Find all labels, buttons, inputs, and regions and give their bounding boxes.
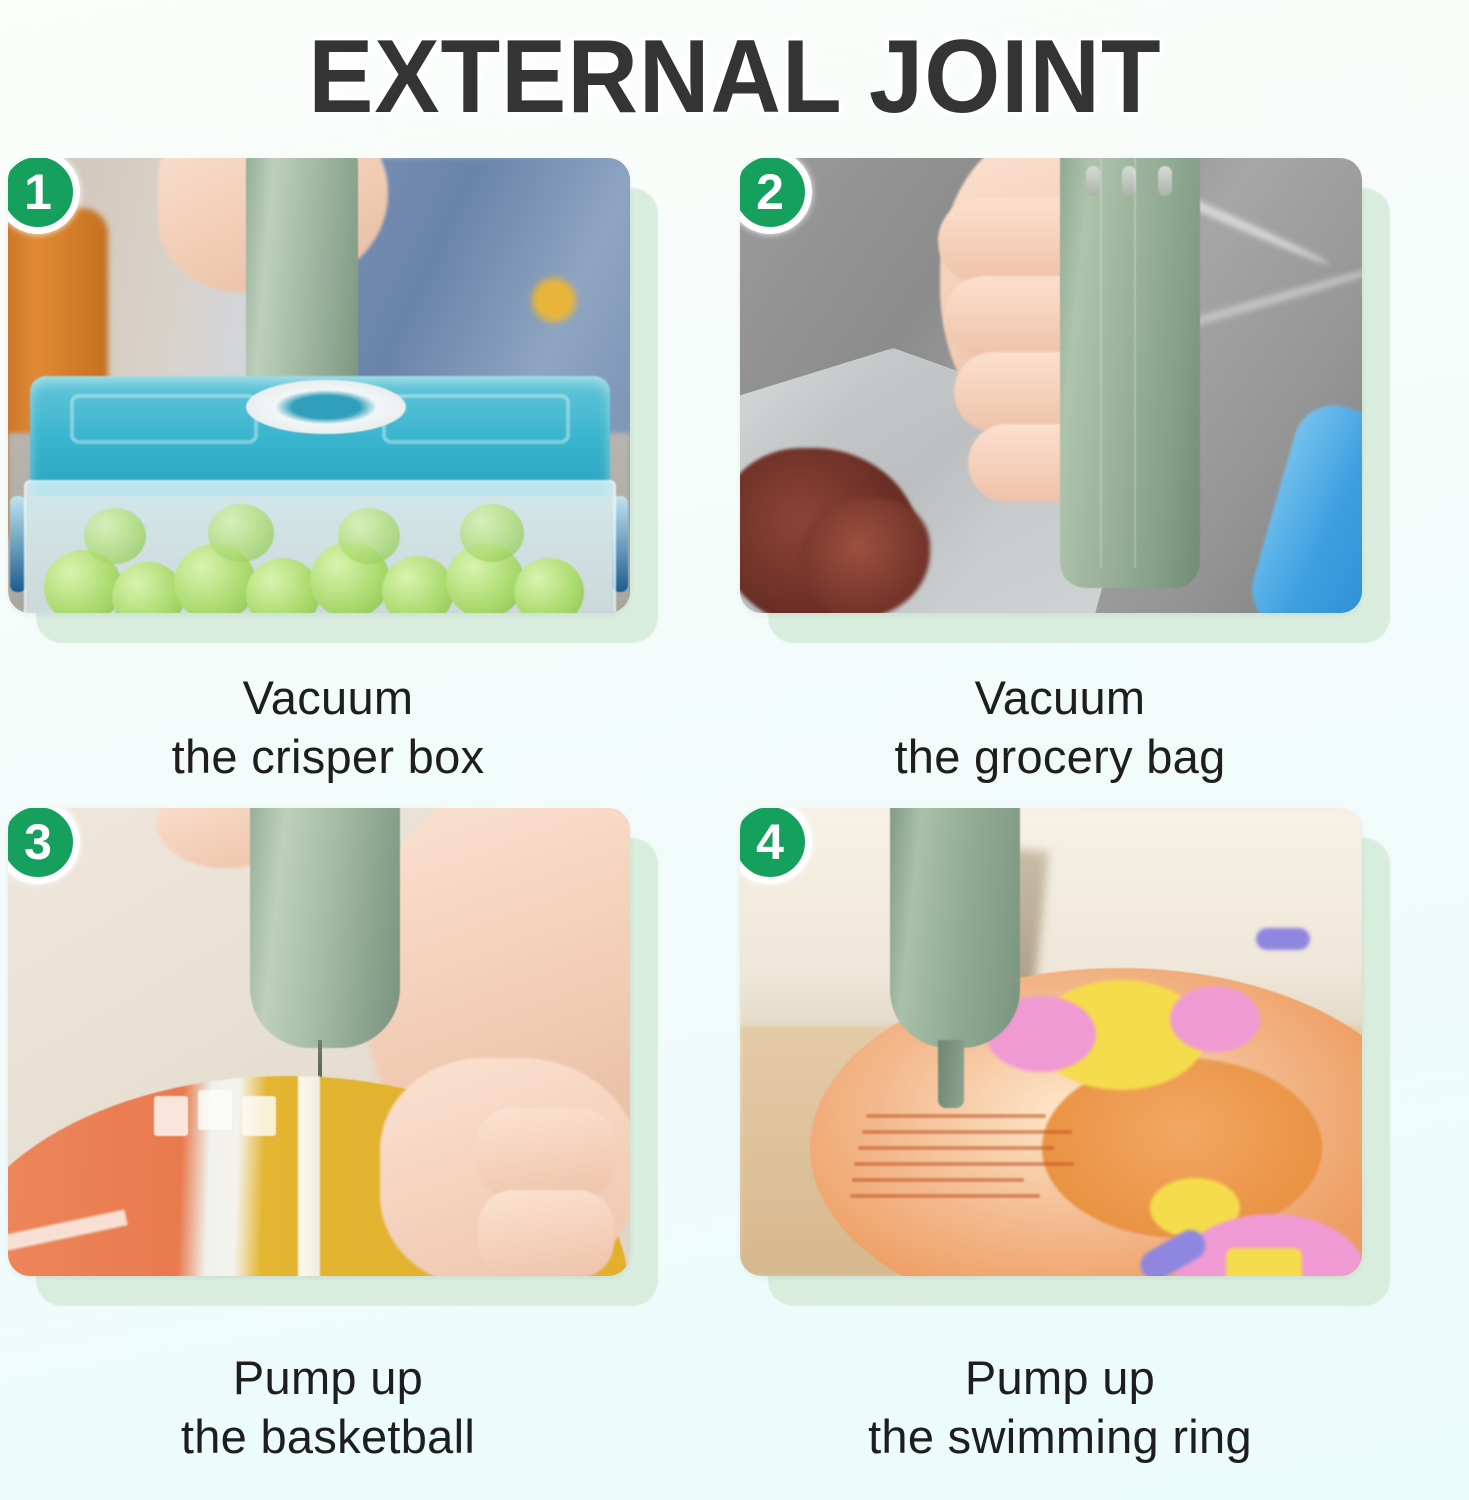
vacuum-pump-shape: [1060, 158, 1200, 588]
ring-yellow-graphic: [1226, 1248, 1302, 1276]
title-bar: EXTERNAL JOINT: [0, 0, 1469, 148]
ball-print: [198, 1090, 232, 1130]
grape: [460, 504, 524, 562]
step-2-photo-card: 2: [740, 158, 1362, 613]
page-title: EXTERNAL JOINT: [308, 25, 1161, 129]
inflation-nozzle-shape: [938, 1040, 964, 1108]
dried-meat-shape: [800, 498, 930, 613]
step-4-image-wrap: 4: [740, 808, 1362, 1276]
vacuum-pump-shape: [890, 808, 1020, 1048]
ring-purple-graphic: [1256, 928, 1310, 950]
ring-print-line: [850, 1194, 1040, 1198]
finger-shape: [476, 1108, 616, 1198]
step-4-photo-card: 4: [740, 808, 1362, 1276]
finger-shape: [478, 1190, 614, 1276]
step-4-caption-line2: the swimming ring: [740, 1407, 1380, 1466]
step-1-caption: Vacuum the crisper box: [8, 668, 648, 786]
step-3-image-wrap: 3: [8, 808, 630, 1276]
step-2-image-wrap: 2: [740, 158, 1362, 613]
bag-zip-strip-shape: [1243, 396, 1362, 613]
step-3-photo-card: 3: [8, 808, 630, 1276]
step-1-caption-line2: the crisper box: [8, 727, 648, 786]
step-3-photo: [8, 808, 630, 1276]
step-3-caption-line1: Pump up: [233, 1351, 423, 1404]
basketball-seam-shape: [298, 1076, 320, 1276]
step-1-photo: [8, 158, 630, 613]
step-2-caption-line2: the grocery bag: [740, 727, 1380, 786]
step-card-1: 1 Vacuum the crisper box: [8, 158, 698, 613]
ball-print: [154, 1096, 188, 1136]
ring-pink-graphic: [1170, 986, 1260, 1052]
step-card-4: 4 Pump up the swimming ring: [740, 808, 1430, 1276]
step-2-caption-line1: Vacuum: [975, 671, 1146, 724]
step-4-caption: Pump up the swimming ring: [740, 1348, 1380, 1466]
grape: [84, 508, 146, 564]
ring-print-line: [862, 1130, 1072, 1134]
pump-button: [1086, 166, 1100, 196]
step-card-2: 2 Vacuum the grocery bag: [740, 158, 1430, 613]
ring-print-line: [854, 1162, 1074, 1166]
vacuum-pump-shape: [246, 158, 358, 398]
step-1-caption-line1: Vacuum: [243, 671, 414, 724]
step-3-caption: Pump up the basketball: [8, 1348, 648, 1466]
step-4-caption-line1: Pump up: [965, 1351, 1155, 1404]
pump-groove: [1134, 158, 1136, 568]
ring-print-line: [858, 1146, 1054, 1150]
vacuum-pump-shape: [250, 808, 400, 1048]
step-2-caption: Vacuum the grocery bag: [740, 668, 1380, 786]
step-1-photo-card: 1: [8, 158, 630, 613]
step-4-photo: [740, 808, 1362, 1276]
ball-print: [242, 1096, 276, 1136]
pump-groove: [1100, 158, 1102, 568]
steps-grid: 1 Vacuum the crisper box: [0, 150, 1469, 1500]
step-2-photo: [740, 158, 1362, 613]
step-1-image-wrap: 1: [8, 158, 630, 613]
step-3-caption-line2: the basketball: [8, 1407, 648, 1466]
step-card-3: 3 Pump up the basketball: [8, 808, 698, 1276]
ring-print-line: [866, 1114, 1046, 1118]
ring-print-line: [852, 1178, 1024, 1182]
grape: [208, 504, 274, 562]
pump-button: [1158, 166, 1172, 196]
grape: [338, 508, 400, 564]
lid-valve-shape: [246, 380, 406, 434]
